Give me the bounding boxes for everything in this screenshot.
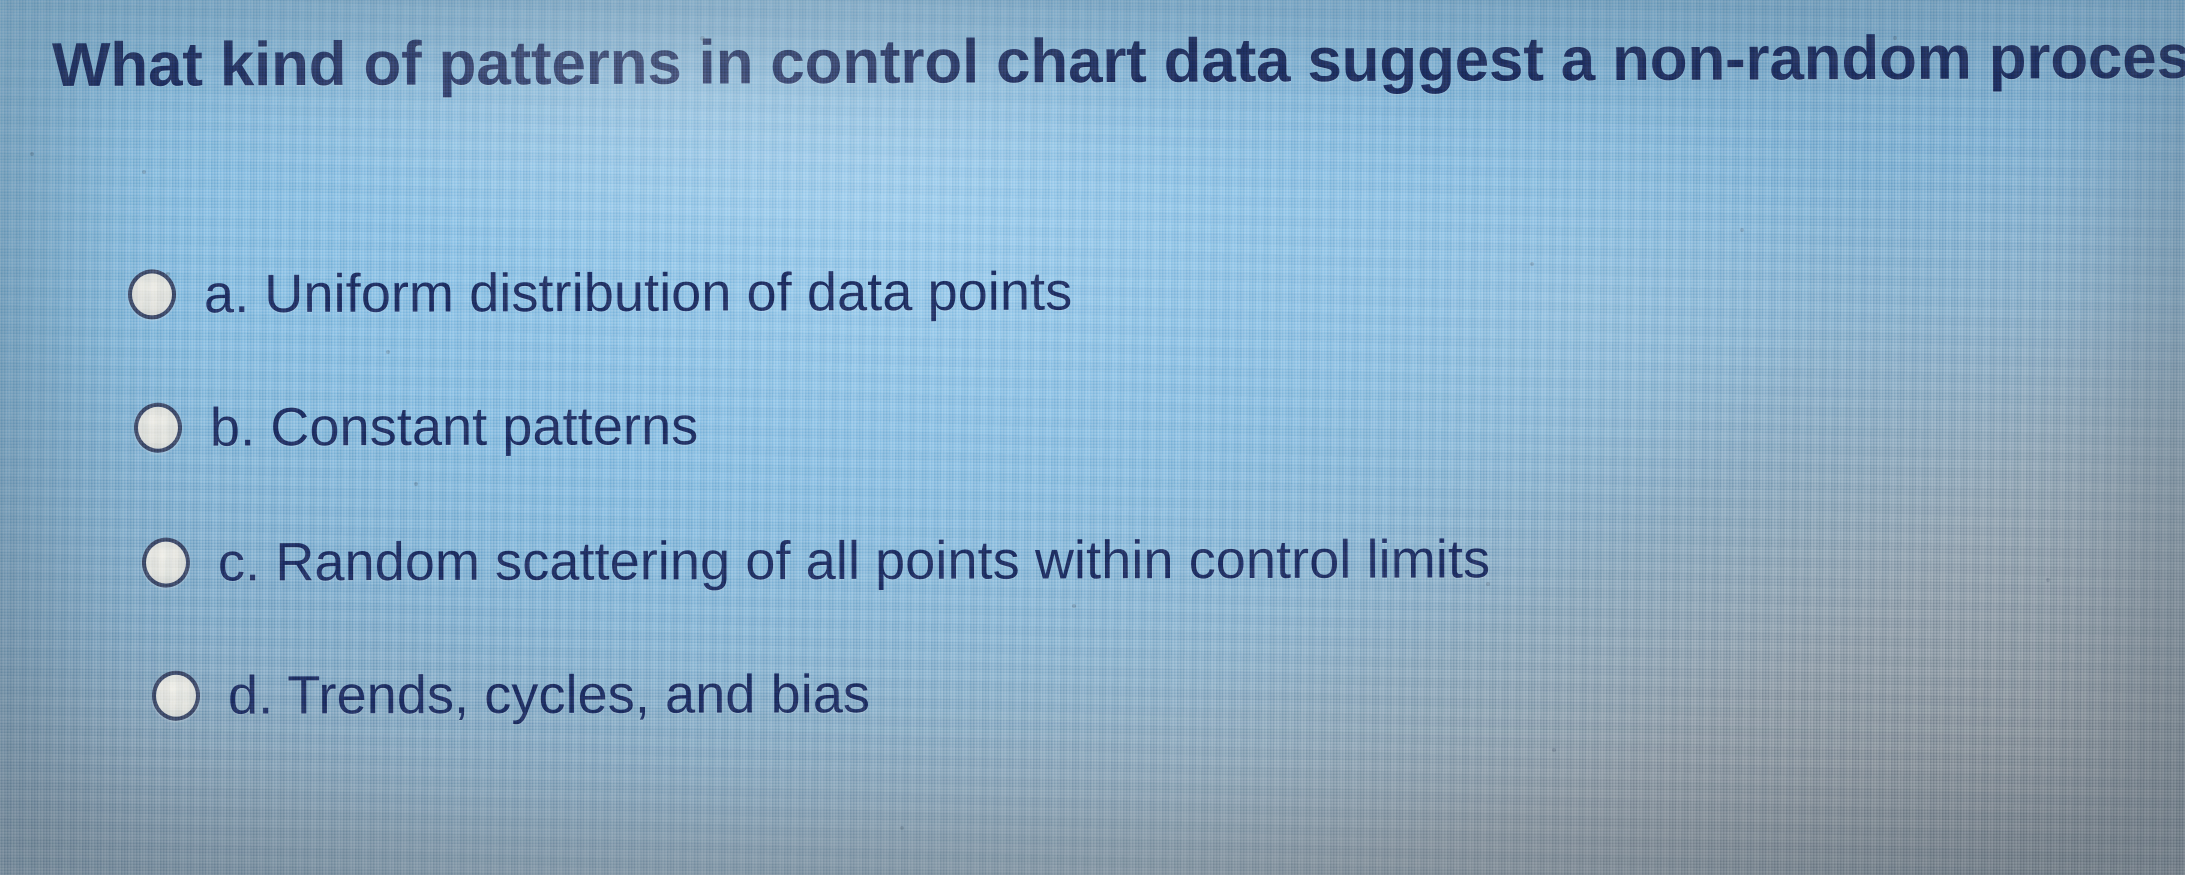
- answer-option-c[interactable]: c. Random scattering of all points withi…: [142, 528, 1490, 593]
- dust-speck: [1072, 604, 1076, 608]
- radio-button-b-icon[interactable]: [134, 403, 182, 453]
- dust-speck: [414, 482, 418, 486]
- dust-speck: [142, 170, 146, 174]
- radio-button-d-icon[interactable]: [152, 671, 200, 721]
- dust-speck: [166, 272, 170, 276]
- dust-speck: [1893, 36, 1897, 40]
- dust-speck: [1963, 46, 1967, 50]
- dust-speck: [30, 152, 34, 156]
- dust-speck: [1530, 262, 1534, 266]
- answer-option-c-label: c. Random scattering of all points withi…: [218, 528, 1490, 593]
- answer-option-d-label: d. Trends, cycles, and bias: [228, 663, 870, 726]
- radio-button-a-icon[interactable]: [128, 269, 176, 319]
- dust-speck: [1740, 228, 1744, 232]
- dust-speck: [2046, 578, 2050, 582]
- question-text: What kind of patterns in control chart d…: [52, 22, 2162, 101]
- dust-speck: [700, 36, 705, 41]
- radio-button-c-icon[interactable]: [142, 538, 190, 588]
- dust-speck: [386, 350, 390, 354]
- answer-option-a-label: a. Uniform distribution of data points: [204, 261, 1072, 326]
- dust-speck: [1486, 582, 1490, 586]
- answer-option-a[interactable]: a. Uniform distribution of data points: [128, 261, 1072, 326]
- answer-option-b[interactable]: b. Constant patterns: [134, 395, 698, 459]
- quiz-content: What kind of patterns in control chart d…: [0, 0, 2185, 875]
- answer-option-b-label: b. Constant patterns: [210, 395, 698, 458]
- quiz-screen-photo: What kind of patterns in control chart d…: [0, 0, 2185, 875]
- dust-speck: [900, 826, 904, 830]
- dust-speck: [1552, 748, 1556, 752]
- answer-option-d[interactable]: d. Trends, cycles, and bias: [152, 663, 870, 727]
